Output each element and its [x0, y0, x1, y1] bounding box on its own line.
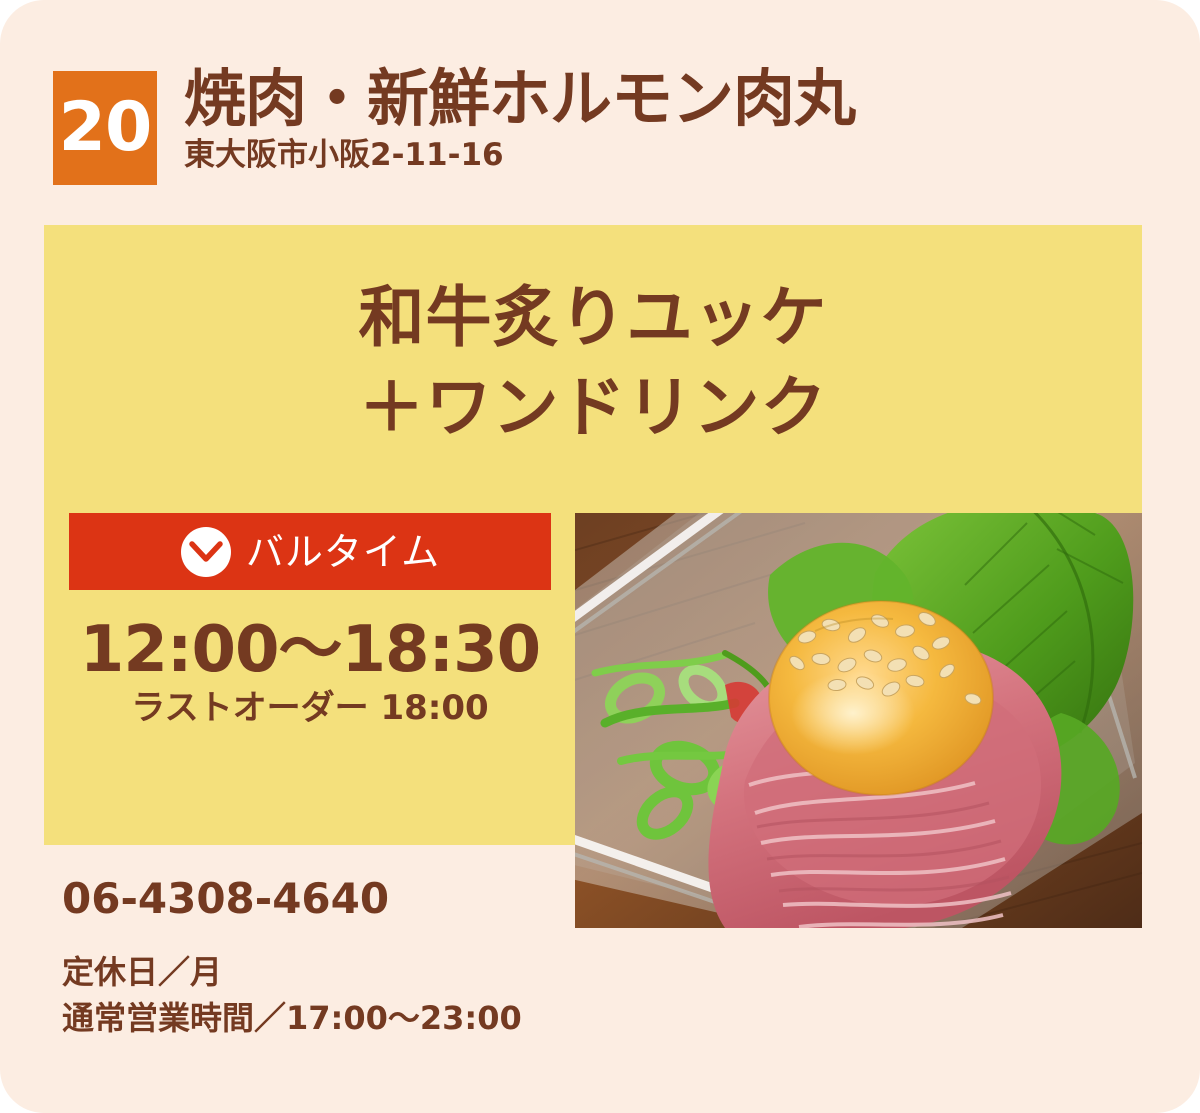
bartime-label: バルタイム: [246, 533, 440, 571]
bartime-hours-block: 12:00〜18:30 ラストオーダー 18:00: [69, 617, 551, 728]
footer-info-lines: 定休日／月 通常営業時間／17:00〜23:00: [62, 950, 582, 1041]
card-footer: 06-4308-4640 定休日／月 通常営業時間／17:00〜23:00: [62, 876, 582, 1041]
shop-name: 焼肉・新鮮ホルモン肉丸: [184, 66, 1144, 132]
menu-title: 和牛炙りユッケ ＋ワンドリンク: [44, 273, 1142, 453]
menu-title-line-1: 和牛炙りユッケ: [44, 273, 1142, 363]
dish-photo: [575, 513, 1142, 928]
header-text-group: 焼肉・新鮮ホルモン肉丸 東大阪市小阪2-11-16: [184, 66, 1144, 172]
menu-title-line-2: ＋ワンドリンク: [44, 363, 1142, 453]
bartime-range: 12:00〜18:30: [69, 617, 551, 684]
bartime-badge: バルタイム: [69, 513, 551, 590]
shop-listing-card: 20 焼肉・新鮮ホルモン肉丸 東大阪市小阪2-11-16 和牛炙りユッケ ＋ワン…: [0, 0, 1200, 1113]
bartime-last-order: ラストオーダー 18:00: [69, 690, 551, 727]
rank-number-label: 20: [59, 94, 152, 162]
phone-number[interactable]: 06-4308-4640: [62, 876, 582, 922]
clock-icon: [180, 526, 232, 578]
regular-hours: 通常営業時間／17:00〜23:00: [62, 996, 582, 1041]
dish-photo-image: [575, 513, 1142, 928]
card-header: 20 焼肉・新鮮ホルモン肉丸 東大阪市小阪2-11-16: [53, 66, 1153, 191]
closed-days: 定休日／月: [62, 950, 582, 995]
shop-address: 東大阪市小阪2-11-16: [184, 138, 1144, 172]
rank-number-badge: 20: [53, 71, 157, 185]
